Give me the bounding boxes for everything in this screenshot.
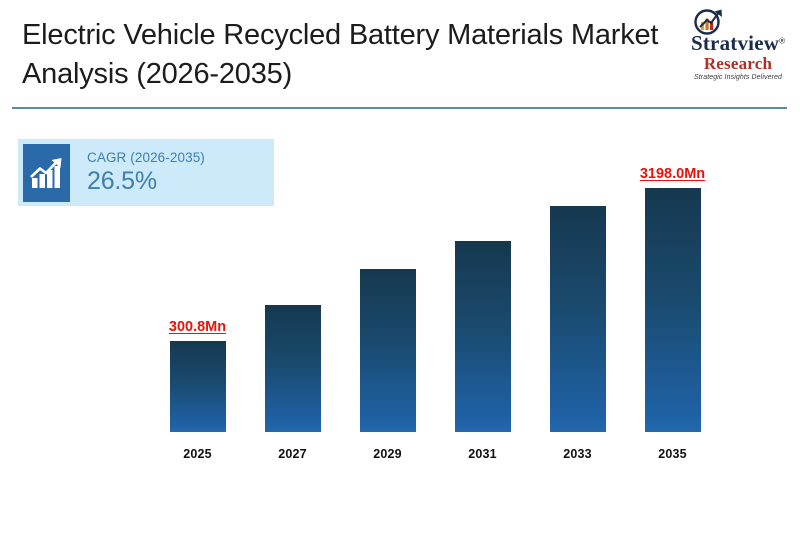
x-axis-tick-2027: 2027 [245,447,340,461]
x-axis-tick-2035: 2035 [625,447,720,461]
bar-2029[interactable] [360,269,416,432]
bar-value-label: 3198.0Mn [625,166,720,182]
x-axis-tick-2029: 2029 [340,447,435,461]
x-axis-tick-2031: 2031 [435,447,530,461]
logo-tagline: Strategic Insights Delivered [684,73,792,83]
logo-second-line: Research [684,55,792,73]
bar-value-label: 300.8Mn [150,319,245,335]
logo-wordmark: Stratview [691,32,779,54]
header-divider [12,107,787,109]
page-title: Electric Vehicle Recycled Battery Materi… [22,16,662,94]
x-axis-tick-2033: 2033 [530,447,625,461]
registered-trademark-icon: ® [779,37,785,46]
bar-2035[interactable] [645,188,701,432]
header: Electric Vehicle Recycled Battery Materi… [0,0,800,110]
logo-wordmark-row: Stratview® [684,32,792,55]
bar-2025[interactable] [170,341,226,432]
x-axis-tick-2025: 2025 [150,447,245,461]
brand-logo: Stratview® Research Strategic Insights D… [684,6,792,84]
bar-2027[interactable] [265,305,321,432]
bar-2033[interactable] [550,206,606,432]
bar-2031[interactable] [455,241,511,432]
bar-chart: 300.8Mn 2025 2027 2029 2031 2033 3198.0M… [0,110,800,466]
